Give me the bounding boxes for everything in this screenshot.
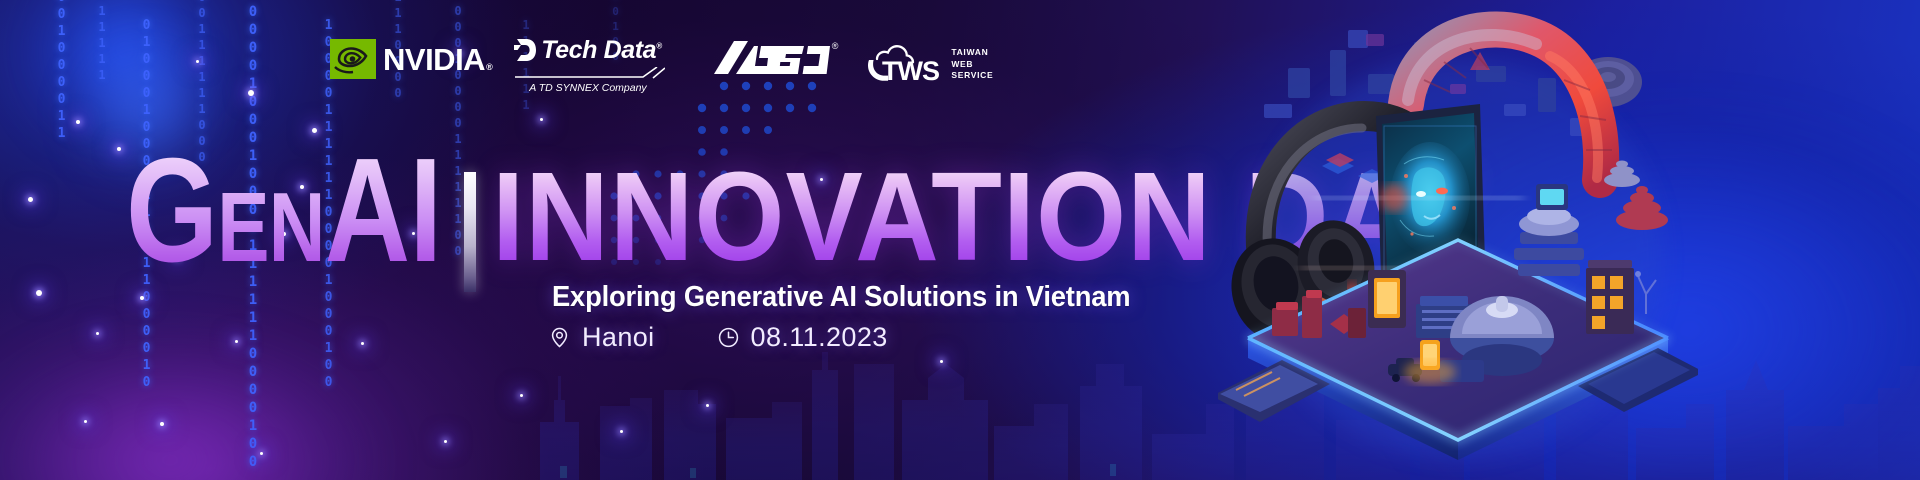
- logo-tech-data[interactable]: Tech Data® A TD SYNNEX Company: [514, 36, 661, 94]
- isometric-ai-tech-city-illustration: [1218, 8, 1698, 480]
- partner-logo-row: NVIDIA® Tech Data® A TD SYNNEX Compa: [330, 36, 993, 92]
- star-particle: [84, 420, 87, 423]
- star-particle: [260, 452, 263, 455]
- date-text: 08.11.2023: [751, 322, 888, 353]
- tws-cloud-and-wordmark: TWS: [868, 42, 946, 84]
- star-particle: [540, 118, 543, 121]
- star-particle: [520, 394, 523, 397]
- techdata-underline-rule: [515, 67, 661, 79]
- location-pin-icon: [548, 326, 571, 349]
- binary-rain-column: 001000011: [55, 0, 68, 143]
- star-particle: [196, 60, 199, 63]
- clock-icon: [717, 326, 740, 349]
- star-particle: [76, 120, 80, 124]
- star-particle: [312, 128, 317, 133]
- logo-nvidia[interactable]: NVIDIA®: [330, 36, 492, 82]
- star-particle: [28, 197, 33, 202]
- binary-rain-column: 11111: [96, 4, 108, 84]
- glow-blob-purple-bottomleft: [0, 330, 380, 480]
- star-particle: [248, 90, 254, 96]
- location-text: Hanoi: [582, 322, 655, 353]
- orange-tower: [1586, 260, 1634, 334]
- techdata-wordmark: Tech Data®: [541, 38, 661, 63]
- star-particle: [361, 342, 364, 345]
- nvidia-eye-icon: [330, 39, 376, 79]
- tws-tagline-lines: TAIWAN WEB SERVICE: [951, 47, 993, 84]
- svg-text:TWS: TWS: [882, 56, 939, 84]
- techdata-d-icon: [514, 37, 536, 63]
- star-particle: [117, 147, 121, 151]
- asus-trademark: ®: [832, 42, 839, 51]
- amber-panel: [1368, 270, 1406, 328]
- genai-brandmark: GENAI: [126, 150, 441, 271]
- techdata-tagline: A TD SYNNEX Company: [529, 82, 646, 94]
- meta-date: 08.11.2023: [717, 322, 888, 353]
- meta-location: Hanoi: [548, 322, 655, 353]
- event-meta-row: Hanoi 08.11.2023: [548, 322, 888, 353]
- star-particle: [36, 290, 42, 296]
- star-particle: [140, 296, 144, 300]
- logo-asus[interactable]: ®: [714, 36, 839, 82]
- star-particle: [706, 404, 709, 407]
- event-subtitle: Exploring Generative AI Solutions in Vie…: [552, 281, 1130, 314]
- asus-logotype-icon: [714, 41, 830, 79]
- star-particle: [160, 422, 164, 426]
- logo-tws[interactable]: TWS TAIWAN WEB SERVICE: [868, 36, 993, 84]
- star-particle: [235, 340, 238, 343]
- headline-divider-bar: [464, 172, 476, 292]
- event-banner: 0010000111111101000100001111110000100011…: [0, 0, 1920, 480]
- star-particle: [940, 360, 943, 363]
- star-particle: [96, 332, 99, 335]
- nvidia-wordmark: NVIDIA®: [383, 44, 492, 75]
- star-particle: [620, 430, 623, 433]
- star-particle: [444, 440, 447, 443]
